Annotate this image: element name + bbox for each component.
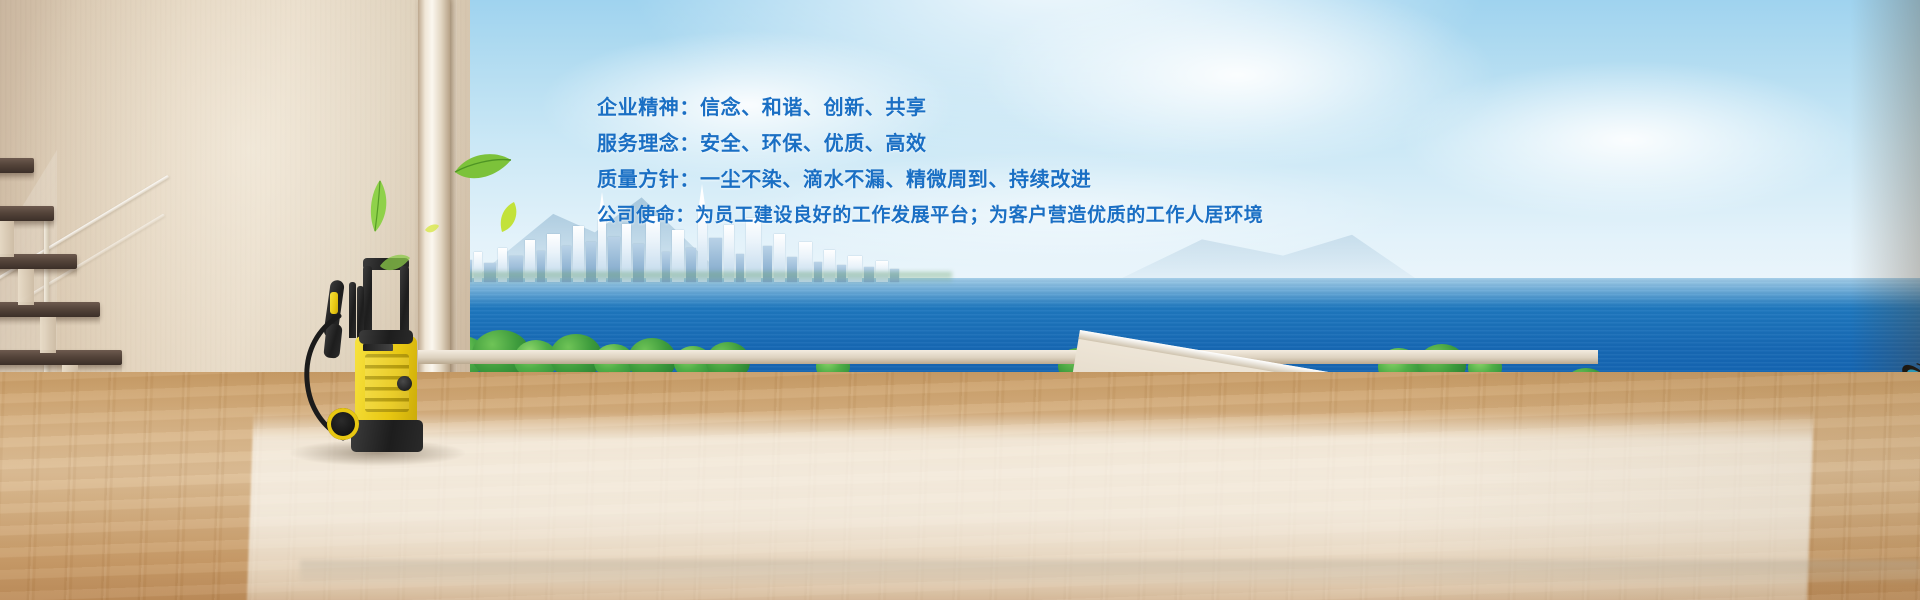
stair-tread [0,158,34,173]
floor-right-shading [1400,372,1920,600]
washer-handle-leg [400,266,409,338]
washer-outlet [397,376,412,391]
leaf-icon [452,148,514,190]
culture-text-block: 企业精神：信念、和谐、创新、共享 服务理念：安全、环保、优质、高效 质量方针：一… [597,90,1357,234]
window-sill [418,350,1598,364]
wood-floor [0,372,1920,600]
culture-line-quality: 质量方针：一尘不染、滴水不漏、精微周到、持续改进 [597,162,1357,198]
culture-line-service: 服务理念：安全、环保、优质、高效 [597,126,1357,162]
stair-tread [0,350,122,365]
leaf-icon [366,178,392,234]
cloud [1398,60,1858,220]
leaf-icon [378,250,412,276]
city-base-haze [452,272,952,284]
leaf-icon [424,222,440,236]
stair-riser [40,317,56,353]
leaf-icon [496,200,522,234]
stair-tread [0,302,100,317]
stair-riser [0,221,14,257]
washer-label [363,344,393,351]
washer-base [351,420,423,452]
washer-body-top-cap [359,330,413,344]
stair-riser [18,269,34,305]
culture-line-spirit: 企业精神：信念、和谐、创新、共享 [597,90,1357,126]
washer-wheel [327,408,359,440]
banner-stage: 企业精神：信念、和谐、创新、共享 服务理念：安全、环保、优质、高效 质量方针：一… [0,0,1920,600]
stair-tread [0,206,54,221]
culture-line-mission: 公司使命：为员工建设良好的工作发展平台；为客户营造优质的工作人居环境 [597,198,1357,234]
pressure-washer [305,258,435,458]
